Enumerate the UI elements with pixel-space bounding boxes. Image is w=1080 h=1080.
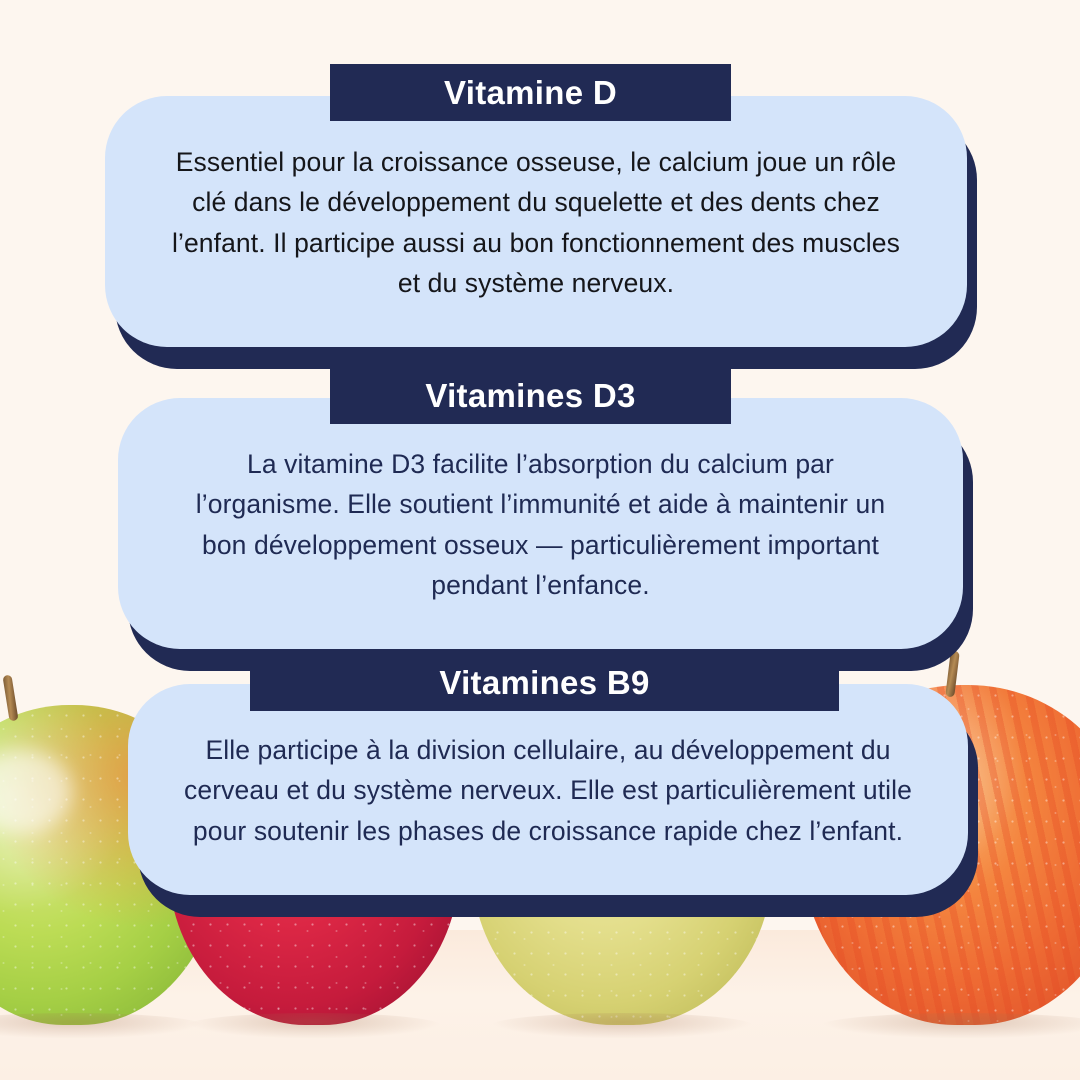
vitamin-card-2: La vitamine D3 facilite l’absorption du …	[118, 398, 963, 649]
card-title-3: Vitamines B9	[439, 664, 649, 702]
card-title-banner-3: Vitamines B9	[250, 654, 839, 711]
card-title-1: Vitamine D	[444, 74, 617, 112]
vitamin-card-3: Elle participe à la division cellulaire,…	[128, 684, 968, 895]
infographic-canvas: Essentiel pour la croissance osseuse, le…	[0, 0, 1080, 1080]
card-title-2: Vitamines D3	[425, 377, 635, 415]
card-body-text: La vitamine D3 facilite l’absorption du …	[172, 444, 909, 605]
vitamin-card-1: Essentiel pour la croissance osseuse, le…	[105, 96, 967, 347]
apple-stem-icon	[2, 675, 18, 722]
card-body: Elle participe à la division cellulaire,…	[128, 684, 968, 895]
card-body-text: Essentiel pour la croissance osseuse, le…	[159, 142, 913, 303]
card-body: La vitamine D3 facilite l’absorption du …	[118, 398, 963, 649]
card-title-banner-2: Vitamines D3	[330, 368, 731, 424]
card-title-banner-1: Vitamine D	[330, 64, 731, 121]
card-body-text: Elle participe à la division cellulaire,…	[182, 730, 914, 851]
card-body: Essentiel pour la croissance osseuse, le…	[105, 96, 967, 347]
